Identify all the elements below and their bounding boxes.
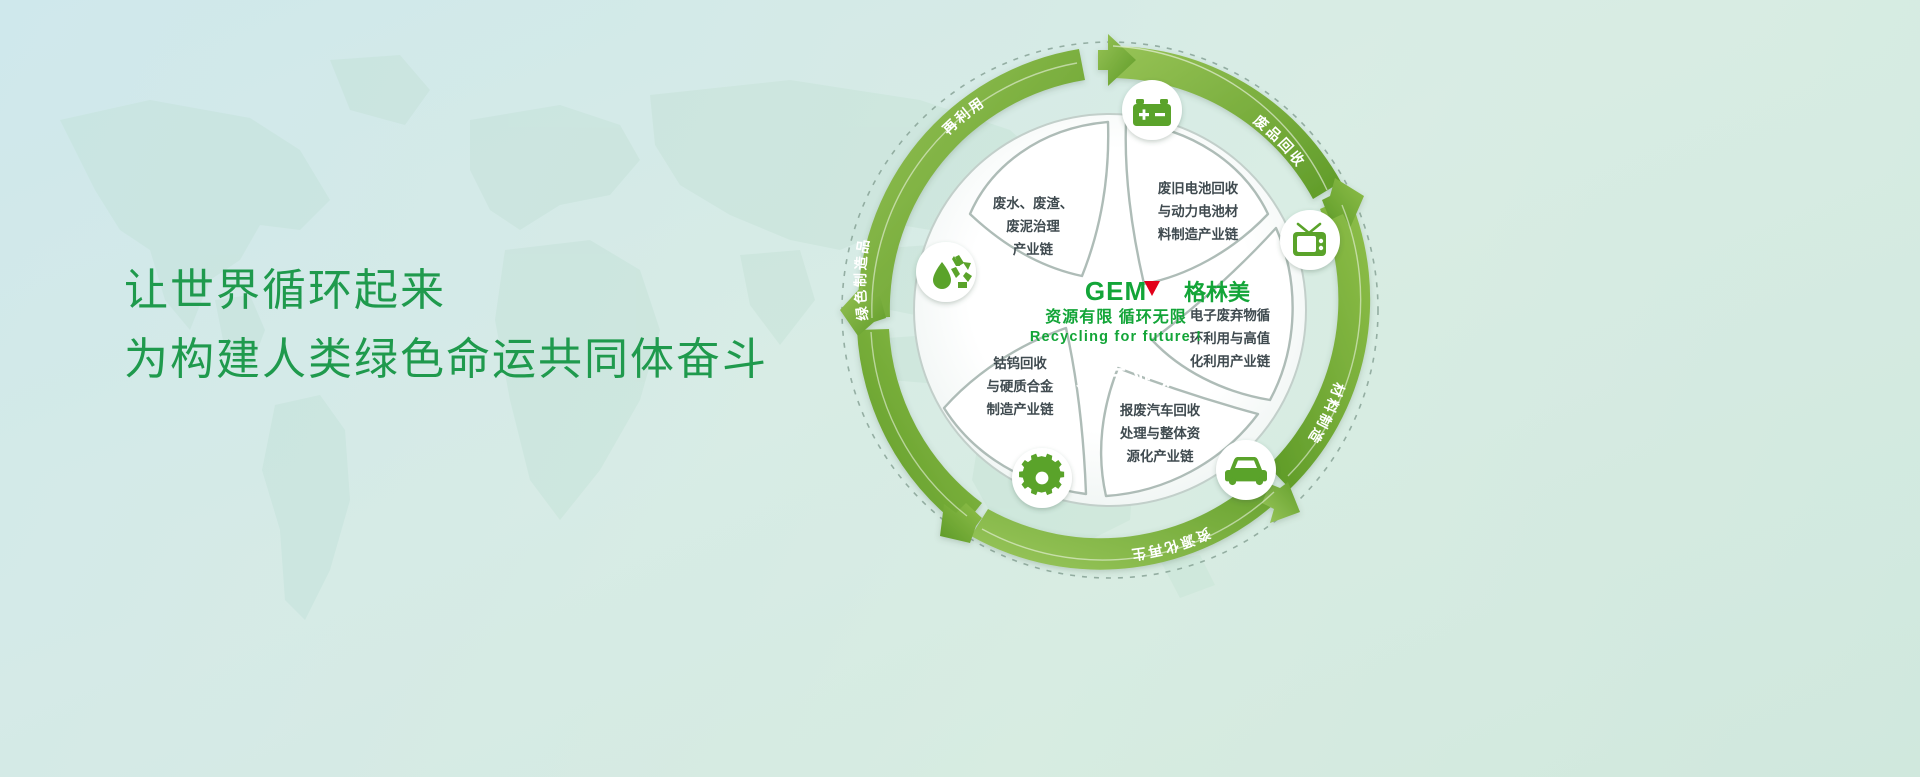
svg-text:源化产业链: 源化产业链 bbox=[1127, 448, 1195, 464]
segment-label-cobalt: 钴钨回收 与硬质合金 制造产业链 bbox=[987, 355, 1055, 417]
gem-brand-cn: 格林美 bbox=[1184, 280, 1251, 305]
svg-text:处理与整体资: 处理与整体资 bbox=[1119, 425, 1201, 441]
svg-text:废旧电池回收: 废旧电池回收 bbox=[1158, 180, 1239, 196]
center-title: 五大产业链 bbox=[1048, 364, 1188, 390]
diagram-svg: 废品回收 材料制造 资源化再生 绿色制造品 再利用 废水、废渣、 废泥治理 产业… bbox=[830, 0, 1390, 620]
svg-text:制造产业链: 制造产业链 bbox=[987, 401, 1055, 417]
icon-bubble-ewaste[interactable] bbox=[1280, 210, 1340, 270]
svg-text:料制造产业链: 料制造产业链 bbox=[1158, 226, 1239, 242]
svg-text:与动力电池材: 与动力电池材 bbox=[1158, 203, 1239, 219]
svg-text:废水、废渣、: 废水、废渣、 bbox=[993, 195, 1073, 211]
svg-text:电子废弃物循: 电子废弃物循 bbox=[1190, 307, 1270, 323]
icon-bubble-battery[interactable] bbox=[1122, 80, 1182, 140]
industry-chain-diagram: 废品回收 材料制造 资源化再生 绿色制造品 再利用 废水、废渣、 废泥治理 产业… bbox=[830, 0, 1390, 620]
segment-label-scrapcar: 报废汽车回收 处理与整体资 源化产业链 bbox=[1119, 402, 1201, 464]
headline-block: 让世界循环起来 为构建人类绿色命运共同体奋斗 bbox=[124, 262, 844, 388]
svg-text:与硬质合金: 与硬质合金 bbox=[987, 378, 1055, 394]
svg-text:钴钨回收: 钴钨回收 bbox=[993, 355, 1047, 371]
headline-line-1: 让世界循环起来 bbox=[124, 262, 844, 319]
segment-label-battery: 废旧电池回收 与动力电池材 料制造产业链 bbox=[1158, 180, 1239, 242]
svg-text:化利用产业链: 化利用产业链 bbox=[1190, 353, 1271, 369]
icon-bubble-scrapcar[interactable] bbox=[1216, 440, 1276, 500]
svg-text:报废汽车回收: 报废汽车回收 bbox=[1120, 402, 1201, 418]
svg-text:产业链: 产业链 bbox=[1013, 241, 1054, 257]
icon-bubble-cobalt[interactable] bbox=[1012, 448, 1072, 508]
headline-line-2: 为构建人类绿色命运共同体奋斗 bbox=[124, 331, 844, 388]
gem-slogan-cn: 资源有限 循环无限 bbox=[1045, 307, 1186, 326]
svg-text:废泥治理: 废泥治理 bbox=[1006, 218, 1060, 234]
icon-bubble-wastewater[interactable] bbox=[916, 242, 976, 302]
gem-wordmark: GEM bbox=[1085, 276, 1147, 306]
gem-slogan-en: Recycling for future ! bbox=[1030, 329, 1202, 345]
